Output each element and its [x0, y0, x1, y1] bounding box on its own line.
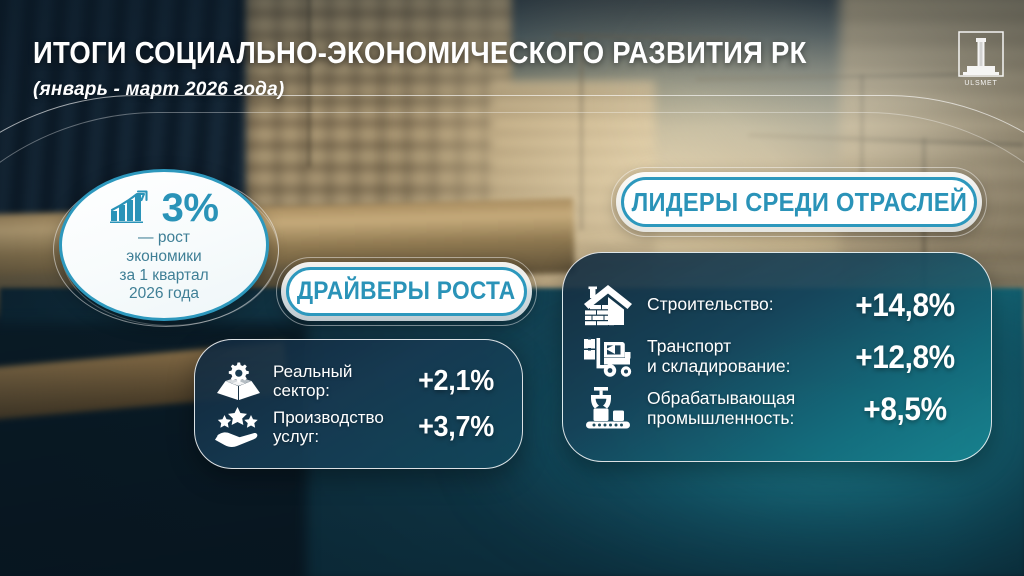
- driver-label-line-2: услуг:: [273, 427, 319, 446]
- drivers-heading-pill: ДРАЙВЕРЫ РОСТА: [281, 262, 532, 321]
- robot-conveyor-icon: [577, 386, 639, 432]
- leaders-heading-label: ЛИДЕРЫ СРЕДИ ОТРАСЛЕЙ: [631, 187, 967, 218]
- leaders-panel: Строительство: +14,8%: [562, 252, 992, 462]
- leader-label-transport: Транспорт и складирование:: [647, 337, 827, 377]
- page-subtitle: (январь - март 2026 года): [33, 79, 893, 101]
- growth-badge-line-3: за 1 квартал: [119, 267, 208, 286]
- leader-label-line-2: и складирование:: [647, 356, 791, 376]
- growth-badge-percent: 3%: [162, 188, 219, 228]
- growth-badge: 3% — рост экономики за 1 квартал 2026 го…: [50, 168, 282, 330]
- driver-label-line-1: Производство: [273, 408, 384, 427]
- leader-label-construction: Строительство:: [647, 295, 827, 315]
- drivers-panel: Реальный сектор: +2,1% Производств: [194, 339, 523, 469]
- house-brick-icon: [577, 282, 639, 328]
- growth-badge-line-4: 2026 года: [119, 285, 208, 304]
- forklift-icon: [577, 336, 639, 378]
- driver-value-real-sector: +2,1%: [408, 365, 505, 398]
- leader-row-manufacturing: Обрабатывающая промышленность: +8,5%: [577, 386, 975, 432]
- bar-chart-growth-icon: [110, 189, 154, 228]
- driver-row-services: Производство услуг: +3,7%: [211, 406, 508, 448]
- svg-text:ULSMET: ULSMET: [964, 80, 997, 87]
- leader-value-manufacturing: +8,5%: [840, 391, 970, 428]
- leaders-heading-pill: ЛИДЕРЫ СРЕДИ ОТРАСЛЕЙ: [616, 172, 982, 232]
- driver-value-services: +3,7%: [408, 411, 505, 444]
- driver-label-services: Производство услуг:: [273, 408, 396, 446]
- leader-row-construction: Строительство: +14,8%: [577, 282, 975, 328]
- drivers-heading-label: ДРАЙВЕРЫ РОСТА: [297, 277, 516, 306]
- growth-badge-caption: — рост экономики за 1 квартал 2026 года: [119, 229, 208, 304]
- leader-value-transport: +12,8%: [840, 339, 970, 376]
- driver-label-real-sector: Реальный сектор:: [273, 362, 396, 400]
- leader-value-construction: +14,8%: [840, 287, 970, 324]
- driver-row-real-sector: Реальный сектор: +2,1%: [211, 360, 508, 402]
- leader-row-transport: Транспорт и складирование: +12,8%: [577, 336, 975, 378]
- box-gears-icon: [211, 360, 265, 402]
- ulsmet-logo-icon: ULSMET: [955, 30, 1007, 92]
- page-title: ИТОГИ СОЦИАЛЬНО-ЭКОНОМИЧЕСКОГО РАЗВИТИЯ …: [33, 36, 807, 71]
- leader-label-manufacturing: Обрабатывающая промышленность:: [647, 389, 827, 429]
- driver-label-line-2: сектор:: [273, 381, 330, 400]
- hand-stars-icon: [211, 406, 265, 448]
- growth-badge-line-2: экономики: [119, 248, 208, 267]
- leader-label-line-2: промышленность:: [647, 408, 794, 428]
- leader-label-line-1: Обрабатывающая: [647, 388, 795, 408]
- driver-label-line-1: Реальный: [273, 362, 352, 381]
- growth-badge-circle: 3% — рост экономики за 1 квартал 2026 го…: [59, 169, 269, 321]
- growth-badge-line-1: — рост: [119, 229, 208, 248]
- leader-label-line-1: Транспорт: [647, 336, 731, 356]
- page-header: ИТОГИ СОЦИАЛЬНО-ЭКОНОМИЧЕСКОГО РАЗВИТИЯ …: [33, 36, 893, 101]
